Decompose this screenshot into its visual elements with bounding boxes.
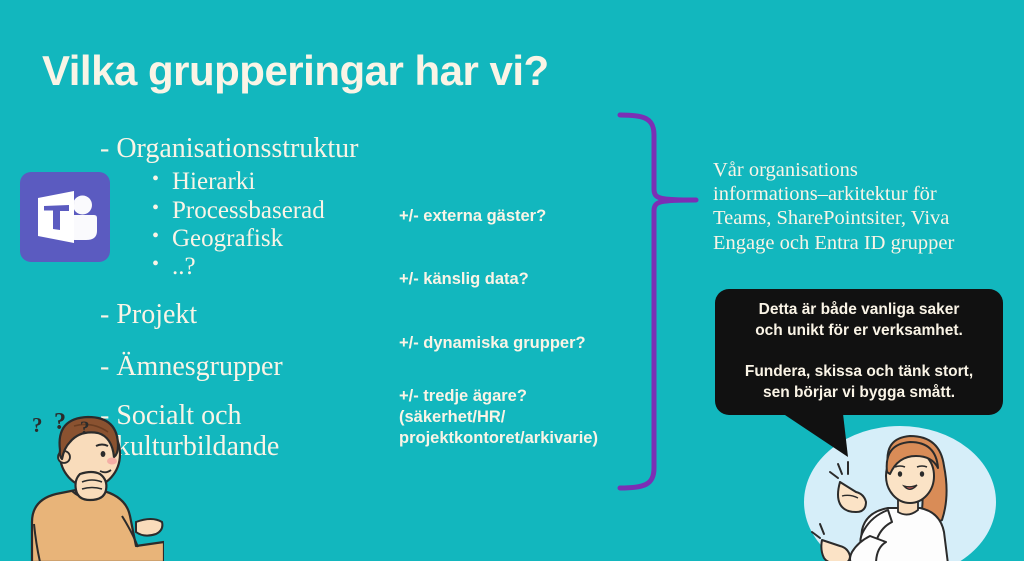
speech-bubble-text: Detta är både vanliga saker och unikt fö… [715, 289, 1003, 404]
svg-text:?: ? [32, 413, 43, 437]
slide-canvas: Vilka grupperingar har vi? - Organisatio… [0, 0, 1024, 561]
list-item: Geografisk [152, 225, 430, 253]
question-kanslig-data: +/- känslig data? [399, 269, 529, 290]
page-title: Vilka grupperingar har vi? [42, 47, 549, 95]
list-item: Hierarki [152, 168, 430, 196]
outline-sublist: Hierarki Processbaserad Geografisk ..? [152, 168, 430, 281]
list-item: Processbaserad [152, 197, 430, 225]
question-externa-gaster: +/- externa gäster? [399, 206, 546, 227]
outline-item-projekt: - Projekt [100, 299, 197, 330]
outline-list: - Organisationsstruktur Hierarki Process… [100, 133, 430, 281]
question-dynamiska-grupper: +/- dynamiska grupper? [399, 333, 586, 354]
speech-bubble: Detta är både vanliga saker och unikt fö… [715, 289, 1003, 415]
list-item: ..? [152, 253, 430, 281]
right-side-note: Vår organisations informations–arkitektu… [713, 158, 1013, 255]
curly-brace-icon [608, 105, 708, 505]
svg-text:?: ? [54, 409, 66, 435]
outline-item-organisationsstruktur: - Organisationsstruktur [100, 133, 430, 164]
question-marks-icon: ? ? ? [30, 408, 110, 440]
microsoft-teams-icon [20, 172, 110, 262]
svg-text:?: ? [80, 418, 90, 439]
speech-bubble-tail [770, 405, 880, 475]
question-tredje-agare: +/- tredje ägare? (säkerhet/HR/ projektk… [399, 386, 598, 449]
outline-item-amnesgrupper: - Ämnesgrupper [100, 351, 283, 382]
